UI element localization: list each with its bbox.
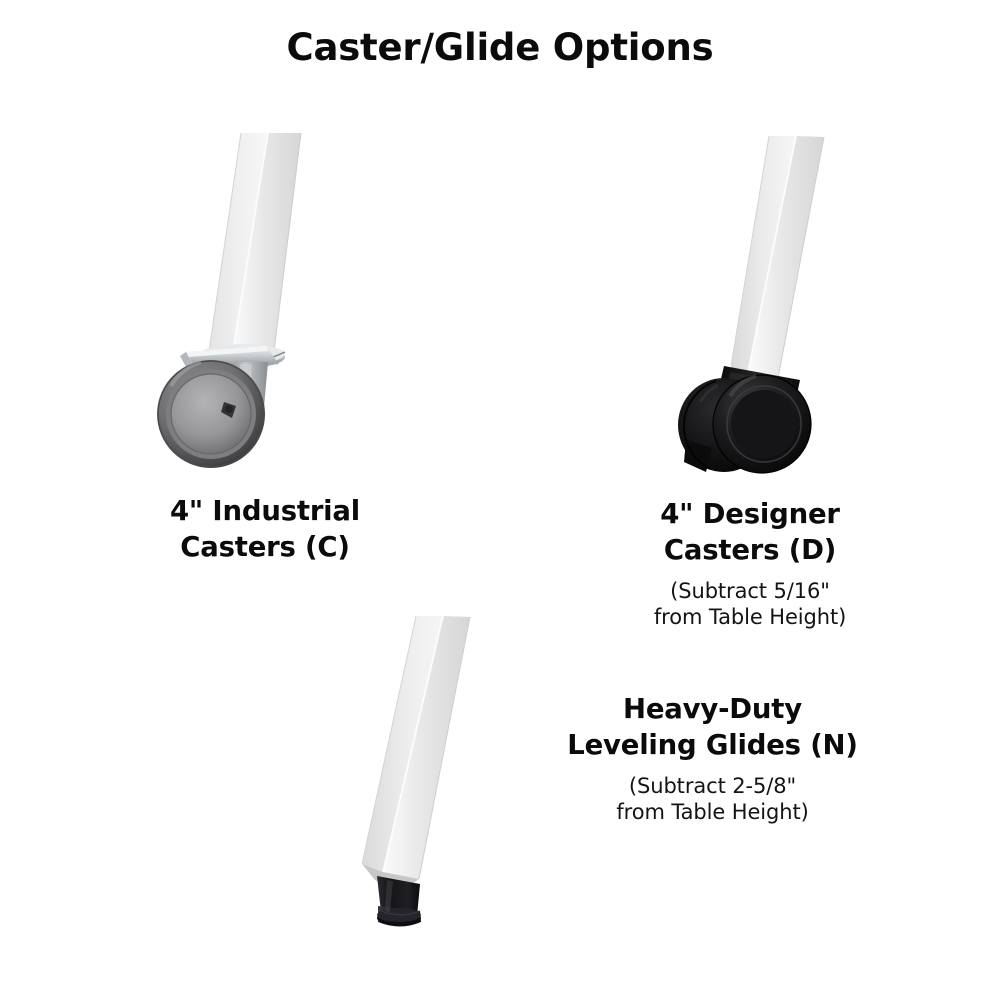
caption-heading: Heavy-Duty Leveling Glides (N) bbox=[485, 692, 940, 764]
caption-designer-casters: 4" Designer Casters (D) (Subtract 5/16" … bbox=[590, 497, 910, 631]
caption-heading-line1: 4" Designer bbox=[660, 498, 840, 530]
caption-leveling-glides: Heavy-Duty Leveling Glides (N) (Subtract… bbox=[485, 692, 940, 826]
caption-heading-line2: Leveling Glides (N) bbox=[567, 729, 858, 761]
caption-heading: 4" Industrial Casters (C) bbox=[45, 494, 485, 566]
caption-heading: 4" Designer Casters (D) bbox=[590, 497, 910, 569]
designer-caster-illustration bbox=[678, 136, 824, 473]
caption-heading-line1: 4" Industrial bbox=[170, 495, 360, 527]
diagram-canvas: Caster/Glide Options bbox=[0, 0, 1000, 1000]
caption-note-line2: from Table Height) bbox=[616, 800, 808, 824]
page-title: Caster/Glide Options bbox=[0, 26, 1000, 69]
caption-heading-line1: Heavy-Duty bbox=[623, 693, 802, 725]
leveling-glide-illustration bbox=[362, 616, 470, 927]
caption-note: (Subtract 5/16" from Table Height) bbox=[590, 578, 910, 632]
caption-note-line2: from Table Height) bbox=[654, 605, 846, 629]
caption-heading-line2: Casters (C) bbox=[180, 531, 350, 563]
industrial-caster-illustration bbox=[157, 133, 301, 468]
caption-industrial-casters: 4" Industrial Casters (C) bbox=[45, 494, 485, 566]
caption-note-line1: (Subtract 5/16" bbox=[670, 579, 830, 603]
caption-heading-line2: Casters (D) bbox=[664, 534, 836, 566]
caption-note: (Subtract 2-5/8" from Table Height) bbox=[485, 773, 940, 827]
caption-note-line1: (Subtract 2-5/8" bbox=[629, 774, 796, 798]
